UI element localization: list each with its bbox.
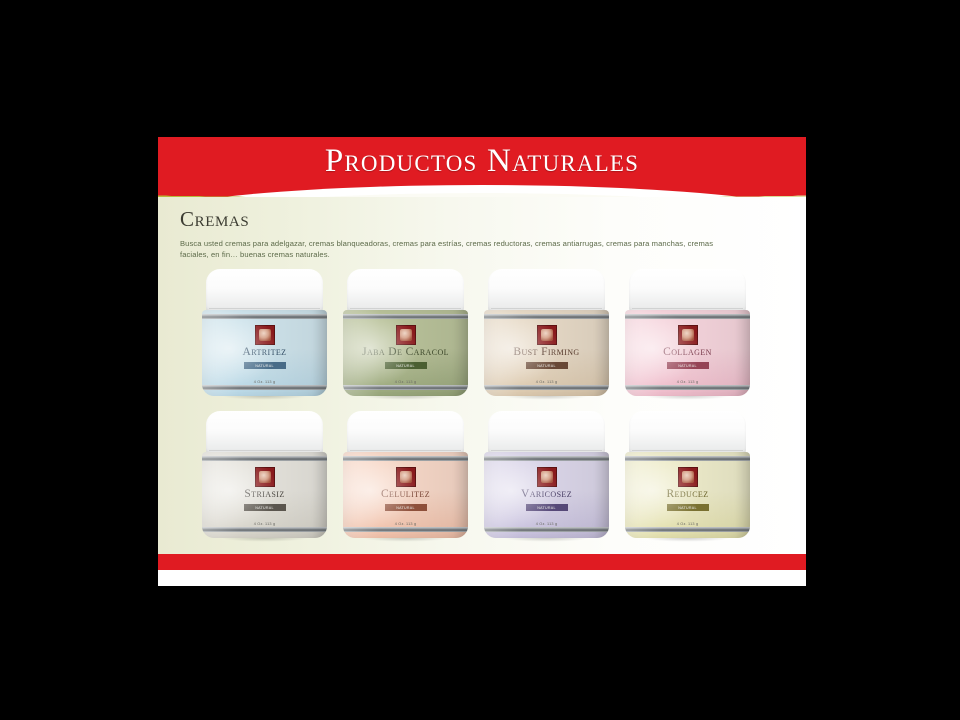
product-jar[interactable]: ArtritezNATURAL4 Oz. 113 g	[198, 269, 331, 399]
jar-shadow	[349, 538, 462, 543]
brand-logo-icon	[678, 467, 698, 487]
brand-emblem-icon	[682, 329, 694, 341]
jar-shadow	[208, 396, 321, 401]
jar-lid	[206, 269, 323, 313]
product-tagline: NATURAL	[244, 362, 286, 369]
product-jar[interactable]: VaricosezNATURAL4 Oz. 113 g	[480, 411, 613, 541]
jar-band-top	[625, 456, 750, 461]
product-weight: 4 Oz. 113 g	[625, 380, 750, 384]
brand-logo-icon	[255, 467, 275, 487]
product-jar[interactable]: Jaba De CaracolNATURAL4 Oz. 113 g	[339, 269, 472, 399]
jar-label: ReducezNATURAL4 Oz. 113 g	[625, 452, 750, 538]
jar-lid	[347, 411, 464, 455]
brand-logo-icon	[537, 467, 557, 487]
brand-logo-icon	[537, 325, 557, 345]
brand-emblem-icon	[259, 329, 271, 341]
slide-body: Cremas Busca usted cremas para adelgazar…	[158, 197, 806, 570]
jar-band-top	[484, 456, 609, 461]
jar-band-bottom	[202, 527, 327, 532]
product-name: Striasiz	[202, 488, 327, 500]
product-tagline: NATURAL	[667, 504, 709, 511]
brand-logo-icon	[678, 325, 698, 345]
product-jar[interactable]: CelulitezNATURAL4 Oz. 113 g	[339, 411, 472, 541]
product-name: Celulitez	[343, 488, 468, 500]
brand-emblem-icon	[682, 471, 694, 483]
jar-band-top	[202, 314, 327, 319]
product-tagline: NATURAL	[526, 504, 568, 511]
product-jar[interactable]: CollagenNATURAL4 Oz. 113 g	[621, 269, 754, 399]
brand-emblem-icon	[259, 471, 271, 483]
product-name: Jaba De Caracol	[343, 346, 468, 358]
product-weight: 4 Oz. 113 g	[343, 380, 468, 384]
jar-label: CelulitezNATURAL4 Oz. 113 g	[343, 452, 468, 538]
product-name: Artritez	[202, 346, 327, 358]
product-name: Varicosez	[484, 488, 609, 500]
jar-lid	[629, 411, 746, 455]
jar-band-bottom	[484, 385, 609, 390]
product-name: Reducez	[625, 488, 750, 500]
product-weight: 4 Oz. 113 g	[343, 522, 468, 526]
jar-band-top	[625, 314, 750, 319]
jar-band-top	[202, 456, 327, 461]
product-tagline: NATURAL	[667, 362, 709, 369]
jar-shadow	[208, 538, 321, 543]
product-weight: 4 Oz. 113 g	[625, 522, 750, 526]
product-name: Collagen	[625, 346, 750, 358]
product-weight: 4 Oz. 113 g	[484, 522, 609, 526]
product-name: Bust Firming	[484, 346, 609, 358]
jar-band-bottom	[343, 385, 468, 390]
page-title: Productos Naturales	[158, 141, 806, 181]
jar-label: Jaba De CaracolNATURAL4 Oz. 113 g	[343, 310, 468, 396]
section-heading: Cremas	[180, 207, 249, 232]
jar-label: ArtritezNATURAL4 Oz. 113 g	[202, 310, 327, 396]
product-weight: 4 Oz. 113 g	[202, 380, 327, 384]
product-row: StriasizNATURAL4 Oz. 113 gCelulitezNATUR…	[198, 411, 782, 541]
brand-logo-icon	[396, 325, 416, 345]
product-grid: ArtritezNATURAL4 Oz. 113 gJaba De Caraco…	[198, 269, 782, 541]
product-weight: 4 Oz. 113 g	[484, 380, 609, 384]
product-tagline: NATURAL	[385, 504, 427, 511]
product-tagline: NATURAL	[385, 362, 427, 369]
section-description: Busca usted cremas para adelgazar, crema…	[180, 239, 720, 260]
jar-shadow	[631, 396, 744, 401]
jar-band-bottom	[343, 527, 468, 532]
jar-shadow	[349, 396, 462, 401]
product-jar[interactable]: StriasizNATURAL4 Oz. 113 g	[198, 411, 331, 541]
jar-label: Bust FirmingNATURAL4 Oz. 113 g	[484, 310, 609, 396]
product-row: ArtritezNATURAL4 Oz. 113 gJaba De Caraco…	[198, 269, 782, 399]
product-weight: 4 Oz. 113 g	[202, 522, 327, 526]
jar-band-bottom	[484, 527, 609, 532]
slide-panel: Productos Naturales Cremas Busca usted c…	[158, 137, 806, 586]
jar-band-top	[343, 314, 468, 319]
product-jar[interactable]: ReducezNATURAL4 Oz. 113 g	[621, 411, 754, 541]
product-tagline: NATURAL	[526, 362, 568, 369]
jar-lid	[206, 411, 323, 455]
jar-lid	[629, 269, 746, 313]
jar-lid	[488, 411, 605, 455]
brand-logo-icon	[255, 325, 275, 345]
jar-label: VaricosezNATURAL4 Oz. 113 g	[484, 452, 609, 538]
brand-emblem-icon	[400, 471, 412, 483]
jar-band-top	[343, 456, 468, 461]
jar-band-bottom	[625, 385, 750, 390]
jar-shadow	[631, 538, 744, 543]
brand-emblem-icon	[400, 329, 412, 341]
jar-shadow	[490, 396, 603, 401]
product-tagline: NATURAL	[244, 504, 286, 511]
jar-shadow	[490, 538, 603, 543]
brand-logo-icon	[396, 467, 416, 487]
jar-label: CollagenNATURAL4 Oz. 113 g	[625, 310, 750, 396]
jar-lid	[347, 269, 464, 313]
video-letterbox-stage: Productos Naturales Cremas Busca usted c…	[0, 0, 960, 720]
jar-band-bottom	[202, 385, 327, 390]
slide-footer-band	[158, 554, 806, 570]
jar-label: StriasizNATURAL4 Oz. 113 g	[202, 452, 327, 538]
jar-lid	[488, 269, 605, 313]
brand-emblem-icon	[541, 471, 553, 483]
product-jar[interactable]: Bust FirmingNATURAL4 Oz. 113 g	[480, 269, 613, 399]
jar-band-bottom	[625, 527, 750, 532]
jar-band-top	[484, 314, 609, 319]
brand-emblem-icon	[541, 329, 553, 341]
